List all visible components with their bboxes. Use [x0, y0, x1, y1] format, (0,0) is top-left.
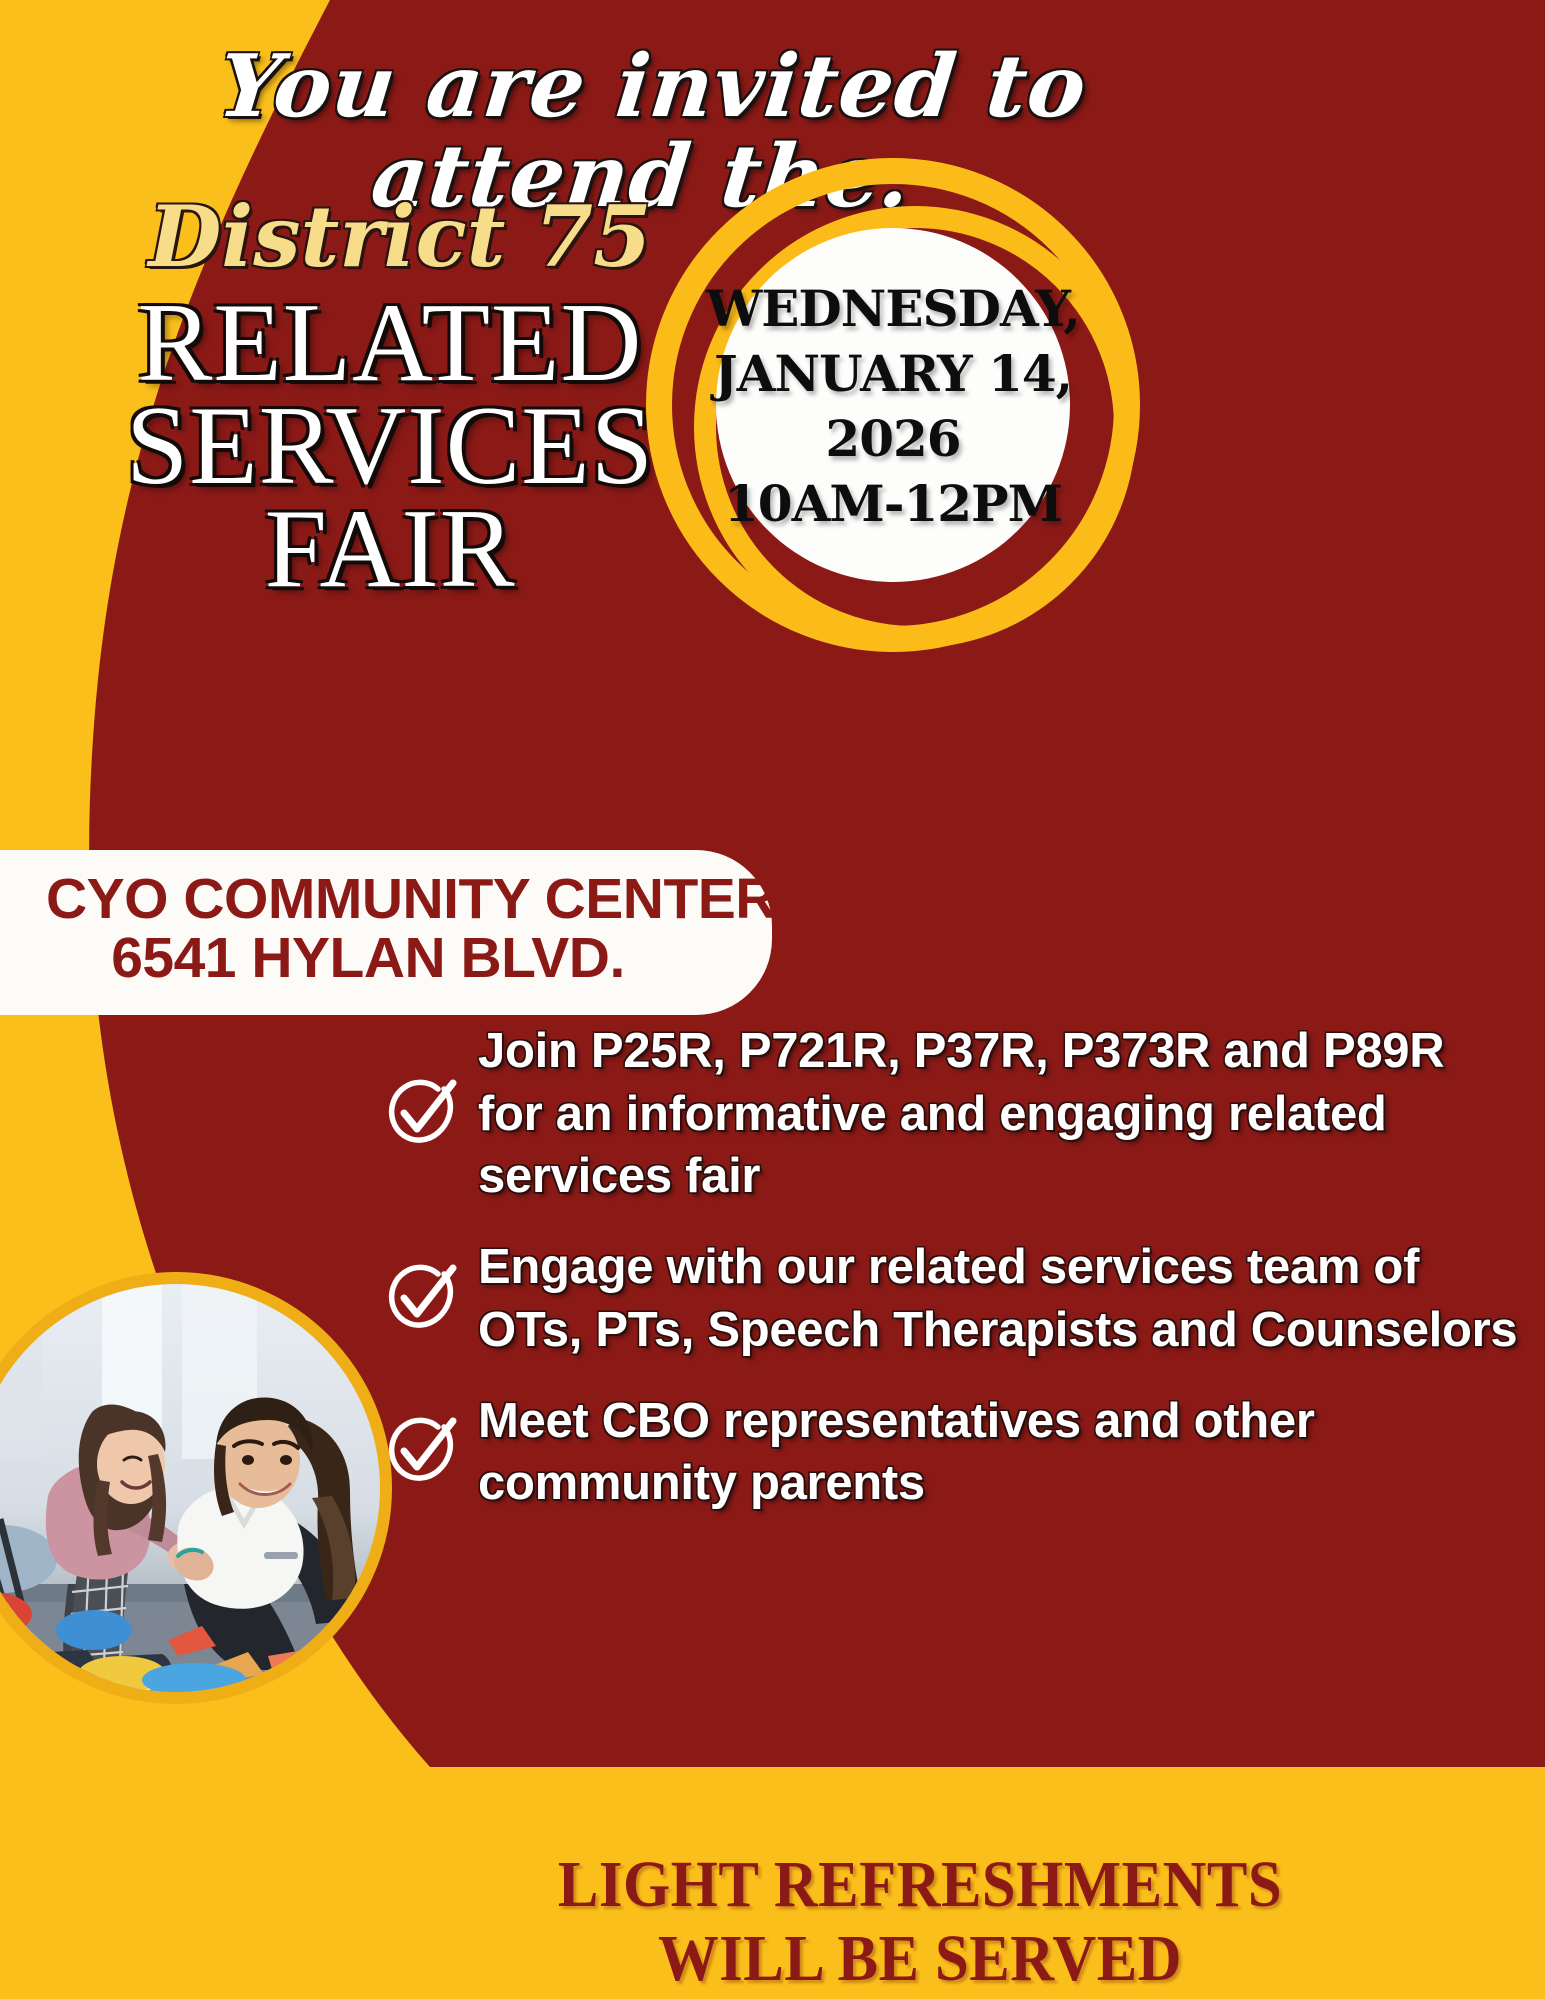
- refreshments-line-1: LIGHT REFRESHMENTS: [460, 1848, 1380, 1922]
- venue-name: CYO COMMUNITY CENTER: [4, 870, 732, 929]
- venue-address: 6541 HYLAN BLVD.: [4, 929, 732, 988]
- list-item-label: Join P25R, P721R, P37R, P373R and P89R f…: [478, 1020, 1522, 1208]
- date-badge-text: WEDNESDAY, JANUARY 14, 2026 10AM-12PM: [686, 276, 1100, 536]
- venue-bar: CYO COMMUNITY CENTER 6541 HYLAN BLVD.: [0, 850, 772, 1015]
- list-item: Join P25R, P721R, P37R, P373R and P89R f…: [382, 1020, 1522, 1208]
- title-line-3: FAIR: [30, 498, 750, 601]
- list-item-label: Engage with our related services team of…: [478, 1236, 1522, 1361]
- check-circle-icon: [382, 1069, 464, 1159]
- refreshments-note: LIGHT REFRESHMENTS WILL BE SERVED: [460, 1848, 1380, 1996]
- check-circle-icon: [382, 1254, 464, 1344]
- list-item: Meet CBO representatives and other commu…: [382, 1390, 1522, 1515]
- title-line-2: SERVICES: [30, 395, 750, 498]
- list-item-label: Meet CBO representatives and other commu…: [478, 1390, 1522, 1515]
- flyer-poster: You are invited to attend the: District …: [0, 0, 1545, 1999]
- date-badge-date: JANUARY 14,: [686, 341, 1100, 406]
- therapist-with-child-photo: [0, 1284, 380, 1692]
- list-item: Engage with our related services team of…: [382, 1236, 1522, 1361]
- date-badge-day: WEDNESDAY,: [686, 276, 1100, 341]
- page-title: RELATED SERVICES FAIR: [30, 292, 750, 601]
- date-badge-time: 10AM-12PM: [686, 471, 1100, 536]
- date-badge: WEDNESDAY, JANUARY 14, 2026 10AM-12PM: [646, 158, 1140, 652]
- title-line-1: RELATED: [30, 292, 750, 395]
- benefits-list: Join P25R, P721R, P37R, P373R and P89R f…: [382, 1020, 1522, 1543]
- refreshments-line-2: WILL BE SERVED: [460, 1922, 1380, 1996]
- check-circle-icon: [382, 1407, 464, 1497]
- district-label: District 75: [120, 195, 680, 279]
- date-badge-year: 2026: [686, 406, 1100, 471]
